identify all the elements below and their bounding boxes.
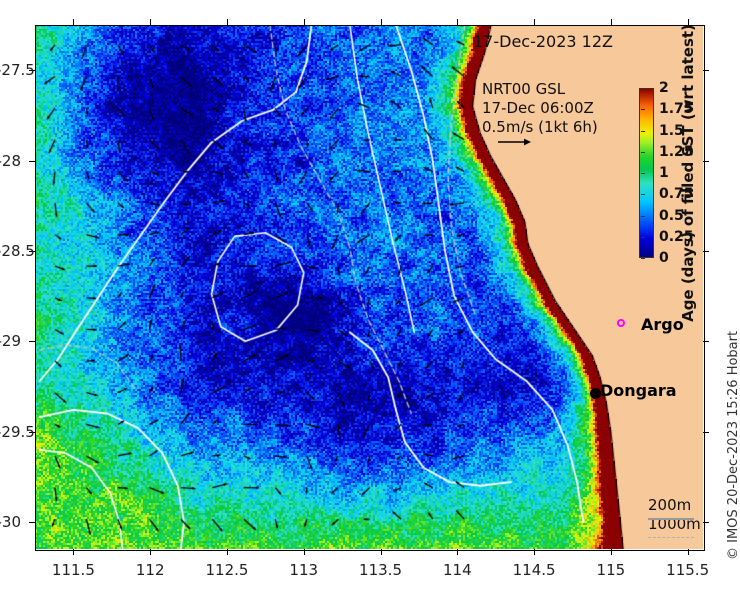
model-annotation: NRT00 GSL 17-Dec 06:00Z 0.5m/s (1kt 6h) (482, 80, 598, 137)
colorbar-title: Age (days) of filled SST (wrt latest) (679, 24, 697, 322)
x-tick-label: 115.5 (666, 561, 709, 579)
x-tick (381, 19, 382, 25)
x-tick (611, 549, 612, 555)
y-tick-label: -29 (0, 332, 21, 350)
x-tick (227, 19, 228, 25)
x-tick (381, 549, 382, 555)
x-tick (457, 549, 458, 555)
colorbar-tick-label: 1 (659, 165, 669, 181)
colorbar-tick-label: 0 (659, 250, 669, 266)
y-tick (703, 251, 709, 252)
argo-label: Argo (641, 315, 684, 334)
vector-scale-arrow-icon (497, 136, 531, 148)
x-tick-label: 112.5 (205, 561, 248, 579)
x-tick (688, 549, 689, 555)
colorbar-tick (641, 237, 645, 238)
dongara-label: Dongara (600, 381, 677, 400)
x-tick-label: 115 (597, 561, 626, 579)
map-plot-area[interactable] (35, 25, 703, 549)
colorbar-tick (641, 216, 645, 217)
x-tick (150, 19, 151, 25)
y-tick (29, 341, 35, 342)
x-tick-label: 112 (136, 561, 165, 579)
x-tick (227, 549, 228, 555)
x-tick (73, 549, 74, 555)
colorbar-tick (641, 88, 645, 89)
x-tick (611, 19, 612, 25)
y-tick (703, 522, 709, 523)
x-tick-label: 114.5 (513, 561, 556, 579)
y-tick-label: -29.5 (0, 423, 21, 441)
y-tick-label: -28 (0, 152, 21, 170)
y-tick (703, 70, 709, 71)
x-tick (304, 19, 305, 25)
bathy-200m-line-sample (648, 518, 694, 520)
y-tick (29, 161, 35, 162)
x-tick-label: 113 (289, 561, 318, 579)
x-tick (150, 549, 151, 555)
credit-text: © IMOS 20-Dec-2023 15:26 Hobart (726, 331, 740, 560)
x-tick-label: 114 (443, 561, 472, 579)
y-tick (703, 432, 709, 433)
bathy-legend-200m: 200m (648, 496, 701, 515)
colorbar-tick-label: 2 (659, 80, 669, 96)
x-tick (534, 19, 535, 25)
colorbar-tick (641, 258, 645, 259)
colorbar-tick (641, 109, 645, 110)
y-tick (703, 161, 709, 162)
x-tick (534, 549, 535, 555)
y-tick (29, 522, 35, 523)
y-tick-label: -28.5 (0, 242, 21, 260)
colorbar-tick (641, 131, 645, 132)
map-overlays (35, 25, 703, 549)
y-tick (703, 341, 709, 342)
x-tick-label: 111.5 (52, 561, 95, 579)
x-tick (73, 19, 74, 25)
x-tick-label: 113.5 (359, 561, 402, 579)
argo-marker-icon[interactable] (617, 319, 625, 327)
bathy-1000m-line-sample (648, 537, 694, 538)
date-stamp: 17-Dec-2023 12Z (473, 32, 613, 51)
colorbar-tick (641, 173, 645, 174)
figure-canvas: 111.5112112.5113113.5114114.5115115.5-27… (0, 0, 740, 592)
y-tick-label: -30 (0, 513, 21, 531)
x-tick (304, 549, 305, 555)
y-tick-label: -27.5 (0, 61, 21, 79)
colorbar-tick (641, 152, 645, 153)
bathymetry-legend: 200m 1000m (648, 496, 701, 534)
colorbar-tick (641, 194, 645, 195)
x-tick (457, 19, 458, 25)
